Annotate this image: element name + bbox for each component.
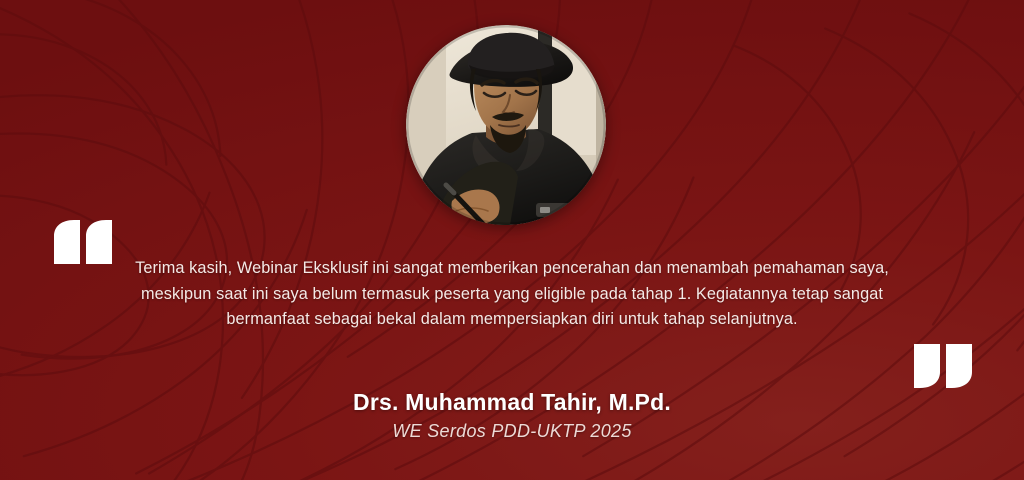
- avatar: [406, 25, 606, 225]
- quote-line: Terima kasih, Webinar Eksklusif ini sang…: [96, 256, 928, 282]
- attribution: Drs. Muhammad Tahir, M.Pd. WE Serdos PDD…: [0, 388, 1024, 443]
- testimonial-card: Terima kasih, Webinar Eksklusif ini sang…: [0, 0, 1024, 480]
- quotation-mark-close-icon: [912, 344, 972, 388]
- quote-text: Terima kasih, Webinar Eksklusif ini sang…: [96, 256, 928, 333]
- author-name: Drs. Muhammad Tahir, M.Pd.: [0, 388, 1024, 416]
- quote-line: bermanfaat sebagai bekal dalam mempersia…: [96, 307, 928, 333]
- author-role: WE Serdos PDD-UKTP 2025: [0, 419, 1024, 443]
- quote-line: meskipun saat ini saya belum termasuk pe…: [96, 282, 928, 308]
